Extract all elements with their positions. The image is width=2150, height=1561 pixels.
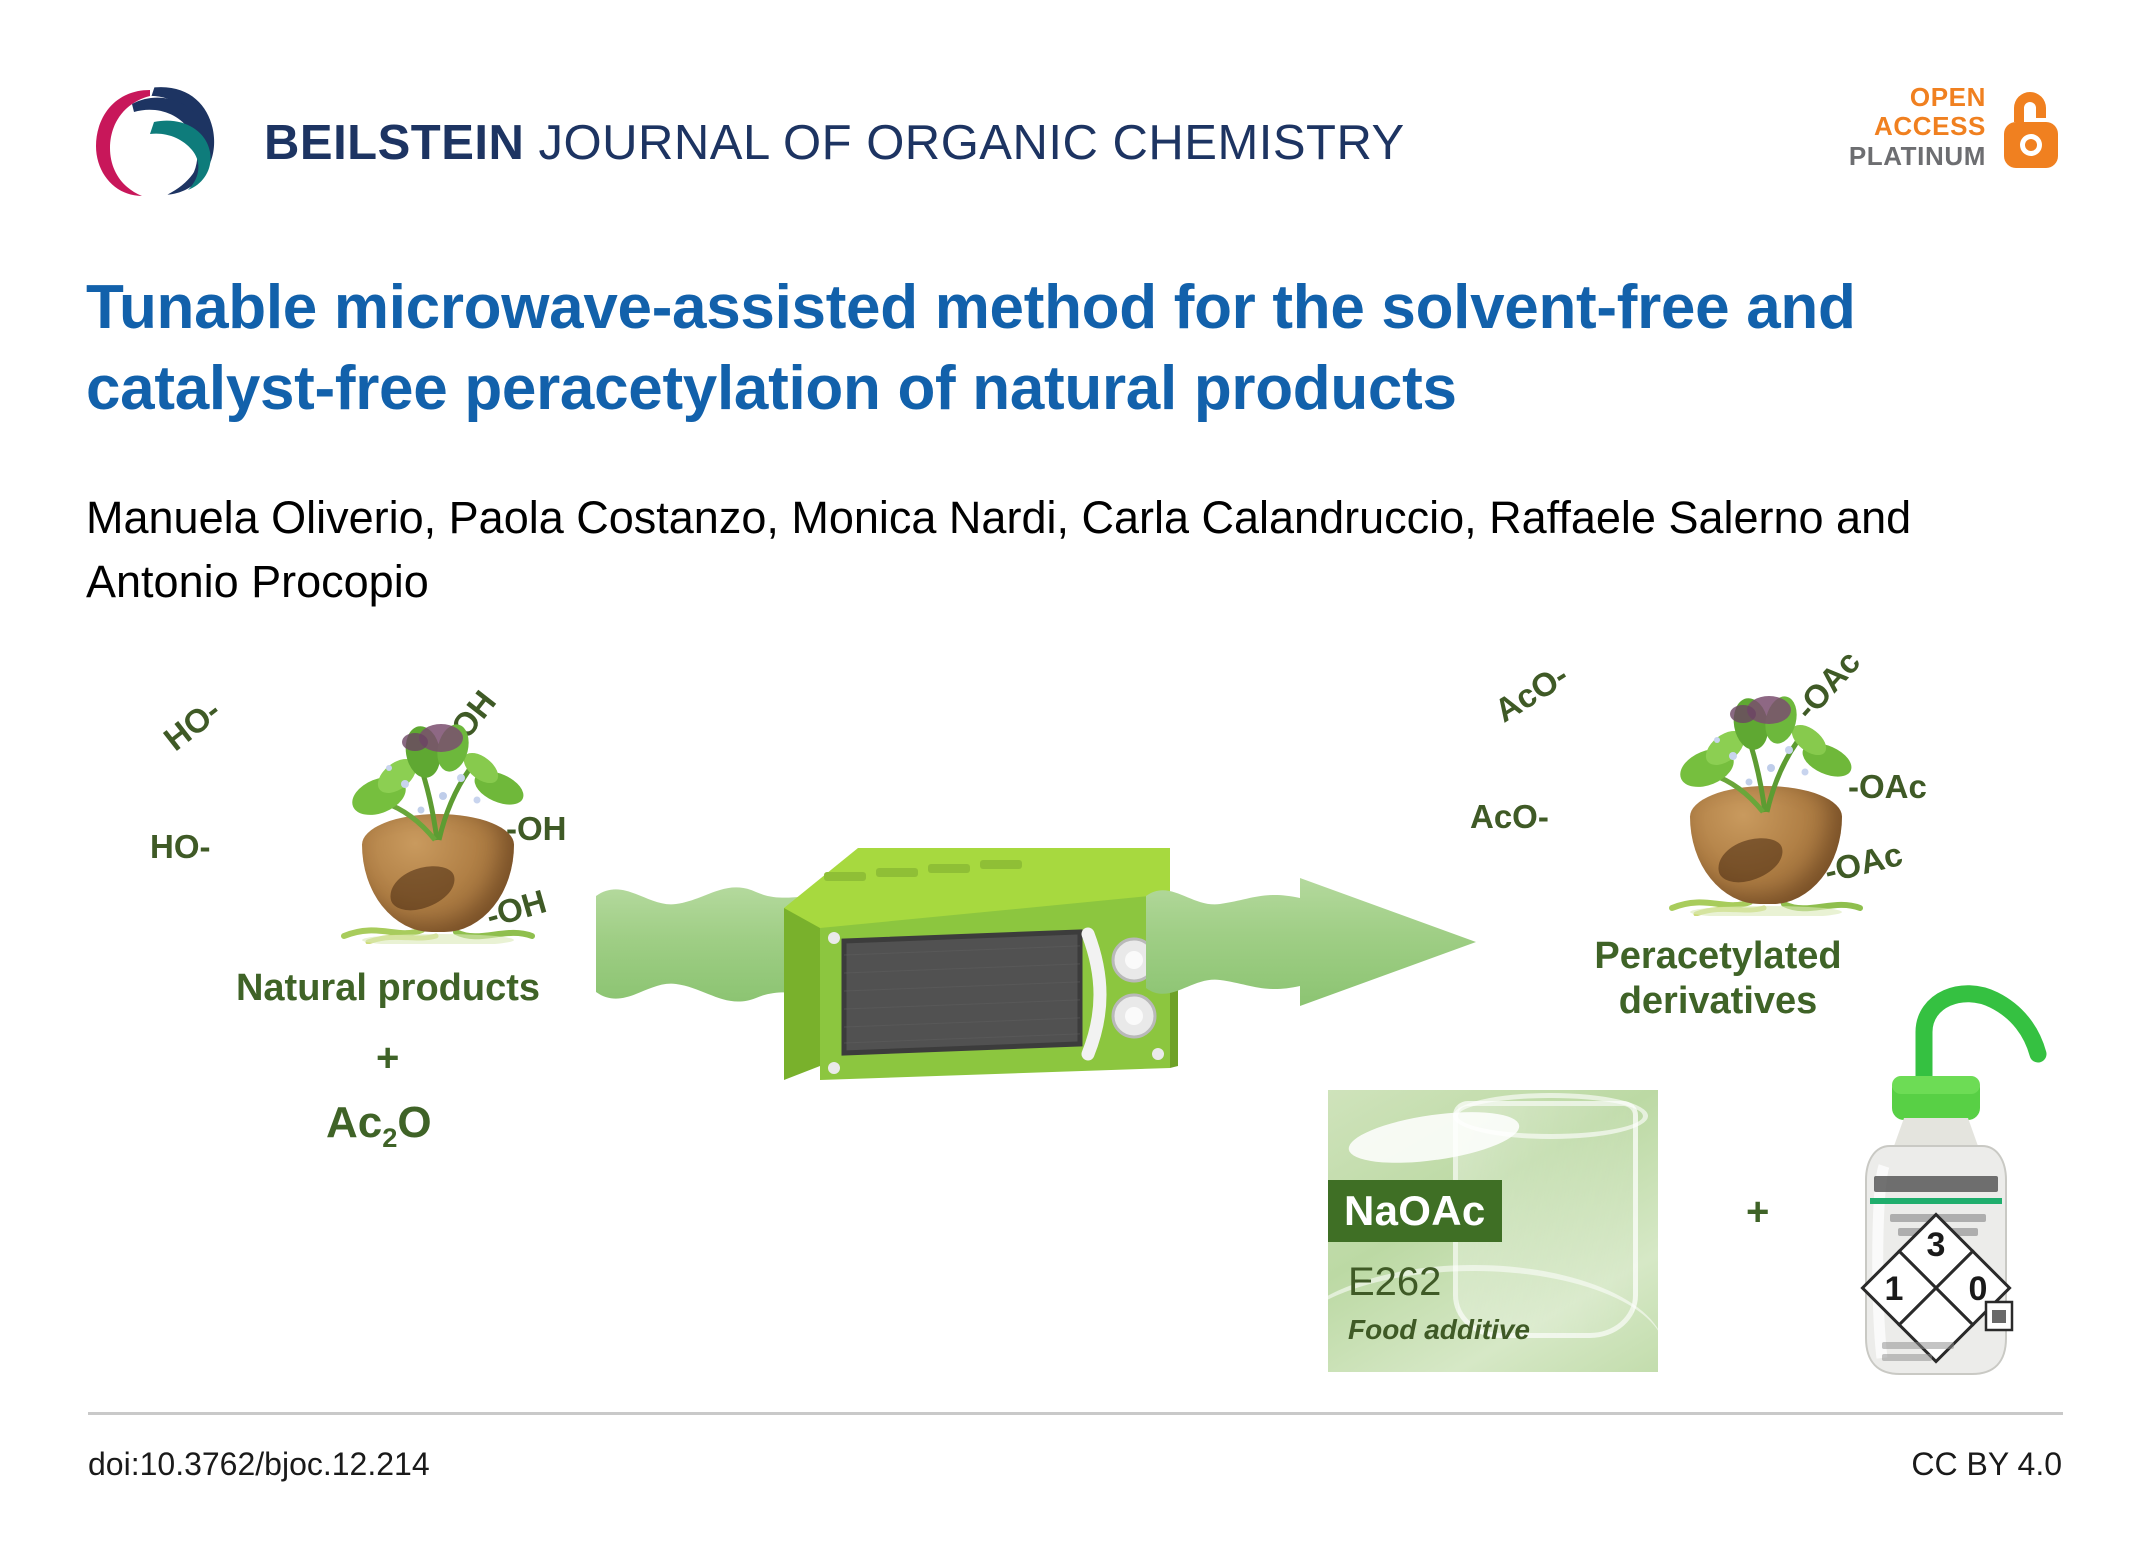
footer-divider [88, 1412, 2063, 1415]
open-access-line-open: OPEN [1849, 83, 1986, 112]
doi-text: doi:10.3762/bjoc.12.214 [88, 1446, 430, 1483]
formula-ac: Ac [326, 1098, 382, 1147]
naoac-subtitle: Food additive [1348, 1314, 1530, 1346]
beilstein-spiral-logo [88, 82, 220, 204]
peracetylated-caption-line1: Peracetylated [1508, 934, 1928, 979]
label-ho-upper-left: HO- [157, 691, 228, 758]
masthead: BEILSTEIN JOURNAL OF ORGANIC CHEMISTRY [88, 78, 2063, 208]
naoac-e-number: E262 [1348, 1260, 1441, 1305]
formula-sub-2: 2 [382, 1122, 397, 1153]
journal-title-rest: JOURNAL OF ORGANIC CHEMISTRY [524, 116, 1404, 170]
label-oac-mid-right: -OAc [1848, 768, 1927, 806]
formula-o: O [397, 1098, 431, 1147]
label-aco-upper-left: AcO- [1488, 656, 1575, 730]
plant-foliage [349, 722, 527, 842]
wavy-reaction-arrow-right [1146, 862, 1486, 1022]
microwave-oven [766, 830, 1186, 1100]
journal-title-brand: BEILSTEIN [264, 116, 524, 170]
product-plant-foliage [1677, 694, 1855, 814]
acetic-anhydride-formula: Ac2O [326, 1098, 432, 1154]
open-padlock-icon [2000, 82, 2062, 172]
label-ho-mid-left: HO- [150, 828, 211, 866]
naoac-package-image: NaOAc E262 Food additive [1328, 1090, 1658, 1372]
label-aco-mid-left: AcO- [1470, 798, 1549, 836]
open-access-text: OPEN ACCESS PLATINUM [1849, 83, 1986, 171]
open-access-line-access: ACCESS [1849, 112, 1986, 141]
natural-products-caption: Natural products [178, 966, 598, 1011]
page-title: Tunable microwave-assisted method for th… [86, 268, 1876, 429]
journal-title: BEILSTEIN JOURNAL OF ORGANIC CHEMISTRY [264, 115, 1405, 171]
byproduct-plus-sign: + [1746, 1190, 1769, 1235]
naoac-name-tag: NaOAc [1328, 1180, 1502, 1242]
svg-text:1: 1 [1885, 1270, 1904, 1308]
svg-text:0: 0 [1969, 1270, 1988, 1308]
reactant-plus-sign: + [376, 1036, 399, 1081]
wash-bottle-ethyl-acetate: 3 1 0 [1828, 980, 2068, 1390]
svg-text:3: 3 [1927, 1226, 1946, 1264]
graphical-abstract: HO- -OH HO- -OH -OH Natural products + A… [88, 650, 2063, 1390]
open-access-line-platinum: PLATINUM [1849, 142, 1986, 171]
license-text: CC BY 4.0 [1911, 1446, 2062, 1483]
author-list: Manuela Oliverio, Paola Costanzo, Monica… [86, 486, 1986, 614]
article-cover-page: BEILSTEIN JOURNAL OF ORGANIC CHEMISTRY O… [0, 0, 2150, 1561]
open-access-badge: OPEN ACCESS PLATINUM [1849, 82, 2062, 172]
